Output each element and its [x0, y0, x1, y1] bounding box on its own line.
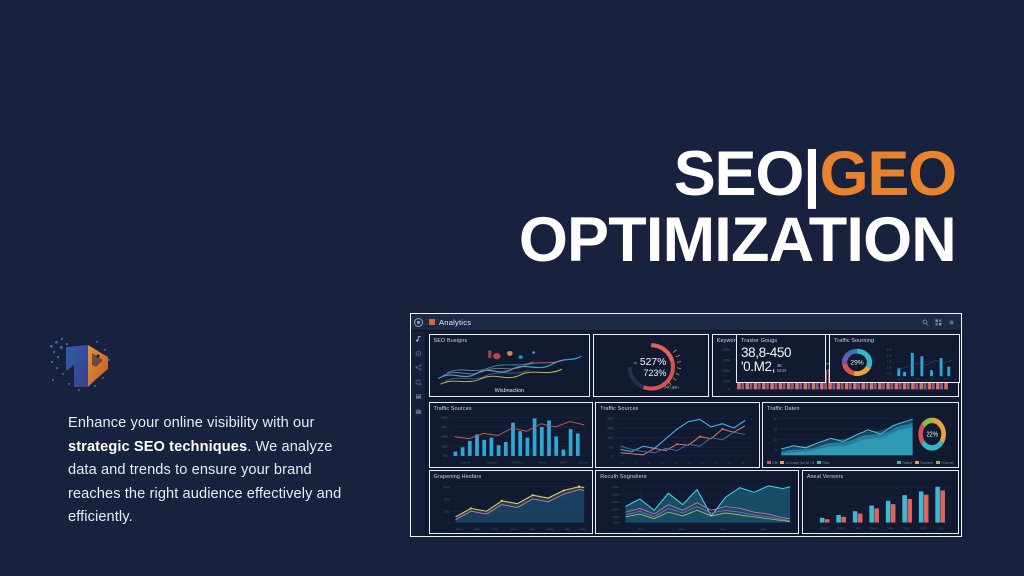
- traffic-sourning-chart: 29% 4.205.00 3.052.00 0.1%: [834, 346, 955, 381]
- card-title: Axeal Versons: [807, 474, 954, 480]
- svg-text:2700s: 2700s: [612, 485, 621, 489]
- svg-text:Jatez: Jatez: [474, 527, 481, 531]
- svg-text:0: 0: [447, 520, 449, 524]
- chart-legend: Clif In Coact ion M / B Find Rated Sorve…: [767, 460, 953, 465]
- svg-text:800: 800: [444, 497, 449, 501]
- svg-text:26: 26: [728, 460, 731, 464]
- card-title: SEO Busigns: [434, 338, 586, 344]
- svg-text:5%: 5%: [609, 446, 614, 450]
- axeal-versons-bar-chart: Wubvit Hubvit Jah Bewsi Augut Bogut Aeuv…: [807, 482, 954, 531]
- card-trastor-gougs[interactable]: Trastor Gougs 38,8-450 '0.M2, IIBNCO: [736, 334, 826, 383]
- body-part-1: Enhance your online visibility with our: [68, 415, 314, 431]
- analytics-dashboard-mockup[interactable]: Analytics: [410, 313, 962, 537]
- legend-item: Sorvent: [915, 461, 933, 465]
- svg-text:30%: 30%: [441, 425, 447, 429]
- svg-text:300: 300: [444, 509, 449, 513]
- svg-text:22: 22: [701, 460, 704, 464]
- gauge-main-value: 527%: [639, 357, 666, 368]
- page-title: SEO|GEO OPTIMIZATION: [519, 146, 956, 270]
- svg-text:20: 20: [688, 460, 691, 464]
- card-traffic-sources-bars[interactable]: Traffic Sources 20% 30% 20%: [429, 402, 593, 468]
- svg-text:12: 12: [634, 460, 637, 464]
- gauge-sub-value: 723%: [643, 367, 666, 377]
- svg-text:Hubvit: Hubvit: [837, 526, 845, 530]
- svg-text:30%: 30%: [722, 359, 729, 363]
- svg-text:10%: 10%: [441, 445, 447, 449]
- svg-text:Uaz: Uaz: [564, 527, 570, 531]
- kpi-annotations: IIBNCO: [777, 363, 786, 374]
- logo-eye-dot: [97, 355, 100, 358]
- gauge-note: 340 дан: [663, 384, 678, 389]
- svg-text:Flatnak: Flatnak: [460, 460, 470, 464]
- line-markers: [676, 428, 723, 445]
- svg-text:Cok: Cok: [679, 527, 685, 531]
- svg-text:Aeuvt: Aeuvt: [920, 526, 927, 530]
- headline-seo: SEO|: [674, 139, 820, 209]
- donut-chart: 29%: [845, 351, 870, 373]
- bars-cyan: [820, 486, 940, 522]
- svg-text:20%: 20%: [722, 369, 729, 373]
- svg-text:Bogut: Bogut: [903, 526, 910, 530]
- kpi-value-1: 38,8-450: [741, 346, 821, 360]
- card-title: Traffic Daten: [767, 406, 953, 412]
- svg-text:16: 16: [661, 460, 664, 464]
- svg-text:2000s: 2000s: [612, 492, 621, 496]
- headline-line-1: SEO|GEO: [519, 146, 956, 204]
- svg-text:18: 18: [674, 460, 677, 464]
- bars-salmon: [825, 490, 945, 522]
- kpi-values: 38,8-450 '0.M2, IIBNCO: [741, 346, 821, 374]
- orange-square-icon: [429, 319, 435, 325]
- svg-text:Tabt: Tabt: [529, 527, 535, 531]
- topbar-actions: [922, 319, 955, 326]
- card-traffic-daten[interactable]: Traffic Daten 2015 105: [762, 402, 958, 468]
- legend-item: Find: [817, 461, 829, 465]
- svg-text:Terec: Terec: [455, 527, 462, 531]
- headline-geo: GEO: [820, 139, 956, 209]
- card-title: Recuth Sognsliers: [600, 474, 794, 480]
- svg-text:CRM lok: CRM lok: [512, 460, 524, 464]
- logo-left-wing: [66, 345, 88, 387]
- card-traffic-sources-lines[interactable]: Traffic Sources 30% 20% 10%: [595, 402, 759, 468]
- svg-text:1500s: 1500s: [612, 500, 621, 504]
- card-title: Trastor Gougs: [741, 338, 821, 344]
- svg-text:Lanit: Lanit: [579, 527, 585, 531]
- kpi-value-2-text: '0.M2,: [741, 360, 775, 374]
- report-icon[interactable]: [415, 393, 422, 400]
- grid-icon[interactable]: [935, 319, 942, 326]
- illustration-caption: Wisbnaction: [434, 388, 586, 394]
- dashboard-row-3: Grapening Hesfars 1100 800 300 0: [429, 470, 959, 534]
- svg-text:4.20: 4.20: [943, 378, 948, 380]
- svg-text:Jah: Jah: [855, 526, 860, 530]
- svg-text:10%: 10%: [722, 380, 729, 384]
- svg-text:Hllopro: Hllopro: [537, 460, 546, 464]
- svg-text:500s: 500s: [613, 515, 620, 519]
- grapening-area-chart: 1100 800 300 0: [434, 482, 588, 531]
- svg-text:15: 15: [774, 427, 777, 431]
- svg-text:0: 0: [612, 454, 614, 458]
- gear-icon[interactable]: [948, 319, 955, 326]
- svg-text:Livw: Livw: [938, 526, 943, 530]
- card-title: Traffic Sources: [600, 406, 754, 412]
- body-bold-phrase: strategic SEO techniques: [68, 439, 247, 455]
- svg-text:10: 10: [621, 460, 624, 464]
- svg-text:Hoat: Hoat: [547, 527, 553, 531]
- dashboard-title: Analytics: [439, 318, 471, 327]
- svg-text:40%: 40%: [722, 348, 729, 352]
- legend-item: In Coact ion M / B: [780, 461, 814, 465]
- seo-scribble-illustration: Wisbnaction: [434, 345, 586, 394]
- svg-text:Frodeco: Frodeco: [486, 460, 497, 464]
- svg-text:Coonets: Coonets: [578, 460, 588, 464]
- area-fill: [455, 486, 584, 522]
- svg-text:Cuty: Cuty: [492, 527, 498, 531]
- svg-text:1-2%: 1-2%: [897, 378, 903, 380]
- donut-center-label: 22%: [926, 431, 938, 439]
- svg-text:20: 20: [774, 417, 777, 421]
- svg-text:10: 10: [774, 438, 777, 442]
- svg-text:2.0%: 2.0%: [915, 378, 920, 380]
- card-grapening-hesfars[interactable]: Grapening Hesfars 1100 800 300 0: [429, 470, 593, 534]
- brand-logo-mark: [48, 335, 116, 397]
- svg-text:5.00: 5.00: [887, 354, 893, 357]
- traffic-sources-bar-chart: 20% 30% 20% 10% 5%: [434, 413, 588, 465]
- card-title: Grapening Hesfars: [434, 474, 588, 480]
- dashboard-icon[interactable]: [415, 350, 422, 357]
- gauge-chart: 527% of 723% 340 дан: [598, 338, 705, 394]
- dashboard-sidebar[interactable]: [411, 331, 426, 536]
- svg-text:5: 5: [775, 448, 777, 452]
- card-seo-gauge[interactable]: 527% of 723% 340 дан: [593, 334, 710, 397]
- svg-text:24: 24: [714, 460, 717, 464]
- svg-text:20%: 20%: [608, 426, 614, 430]
- search-circle-icon[interactable]: [415, 379, 422, 386]
- headline-line-2: OPTIMIZATION: [519, 212, 956, 270]
- svg-text:14: 14: [648, 460, 651, 464]
- gauge-prefix: of: [633, 361, 637, 365]
- music-note-icon[interactable]: [415, 335, 422, 342]
- svg-text:0: 0: [728, 388, 730, 392]
- card-title: Traffic Sourning: [834, 338, 955, 344]
- traffic-sources-line-chart: 30% 20% 10% 5% 0: [600, 413, 754, 465]
- app-logo-icon[interactable]: [414, 318, 423, 327]
- legend-item: Clif: [767, 461, 777, 465]
- svg-text:Bewsi: Bewsi: [870, 526, 877, 530]
- svg-text:0.1%: 0.1%: [886, 372, 893, 375]
- donut-chart: 22%: [921, 420, 944, 447]
- traffic-daten-area-chart: 2015 105: [767, 413, 953, 460]
- svg-text:Aho: Aho: [761, 527, 767, 531]
- svg-text:20%: 20%: [441, 416, 447, 420]
- svg-text:cMRT: cMRT: [559, 460, 567, 464]
- share-icon[interactable]: [415, 364, 422, 371]
- donut-center-label: 29%: [850, 359, 864, 366]
- svg-text:1000s: 1000s: [612, 507, 621, 511]
- card-axeal-versons[interactable]: Axeal Versons: [802, 470, 959, 534]
- search-icon[interactable]: [922, 319, 929, 326]
- body-paragraph: Enhance your online visibility with our …: [68, 412, 353, 530]
- svg-text:3.5: 3.5: [930, 378, 934, 380]
- briefcase-icon[interactable]: [415, 408, 422, 415]
- kpi-value-2: '0.M2, IIBNCO: [741, 360, 821, 374]
- card-traffic-sourning[interactable]: Traffic Sourning 29% 4.205.00: [829, 334, 960, 383]
- card-seo-busigns[interactable]: SEO Busigns: [429, 334, 591, 397]
- line-series-c: [621, 432, 745, 452]
- svg-text:Ten: Ten: [721, 527, 726, 531]
- svg-text:28: 28: [741, 460, 744, 464]
- svg-text:20%: 20%: [441, 435, 447, 439]
- svg-text:1100: 1100: [442, 485, 449, 489]
- svg-text:2.00: 2.00: [887, 366, 893, 369]
- card-recuth-sognsliers[interactable]: Recuth Sognsliers: [595, 470, 799, 534]
- card-title: Traffic Sources: [434, 406, 588, 412]
- svg-text:4.20: 4.20: [887, 348, 893, 351]
- svg-text:10%: 10%: [608, 436, 614, 440]
- svg-text:Hnv: Hnv: [639, 527, 645, 531]
- svg-text:30%: 30%: [608, 417, 614, 421]
- dashboard-topbar: Analytics: [411, 314, 961, 331]
- svg-text:Augut: Augut: [887, 526, 894, 530]
- svg-text:100s: 100s: [613, 520, 620, 524]
- svg-text:Gom: Gom: [511, 527, 518, 531]
- legend-item: Rated: [897, 461, 912, 465]
- svg-text:5%: 5%: [442, 454, 447, 458]
- legend-item: I Cornet: [936, 461, 954, 465]
- svg-text:3.05: 3.05: [887, 360, 893, 363]
- recuth-area-chart: 2700s 2000s 1500s 1000s 500s 100s: [600, 482, 794, 531]
- logo-right-wing: [88, 345, 108, 387]
- dashboard-row-2: Traffic Sources 20% 30% 20%: [429, 402, 959, 468]
- svg-text:Wubvit: Wubvit: [820, 526, 828, 530]
